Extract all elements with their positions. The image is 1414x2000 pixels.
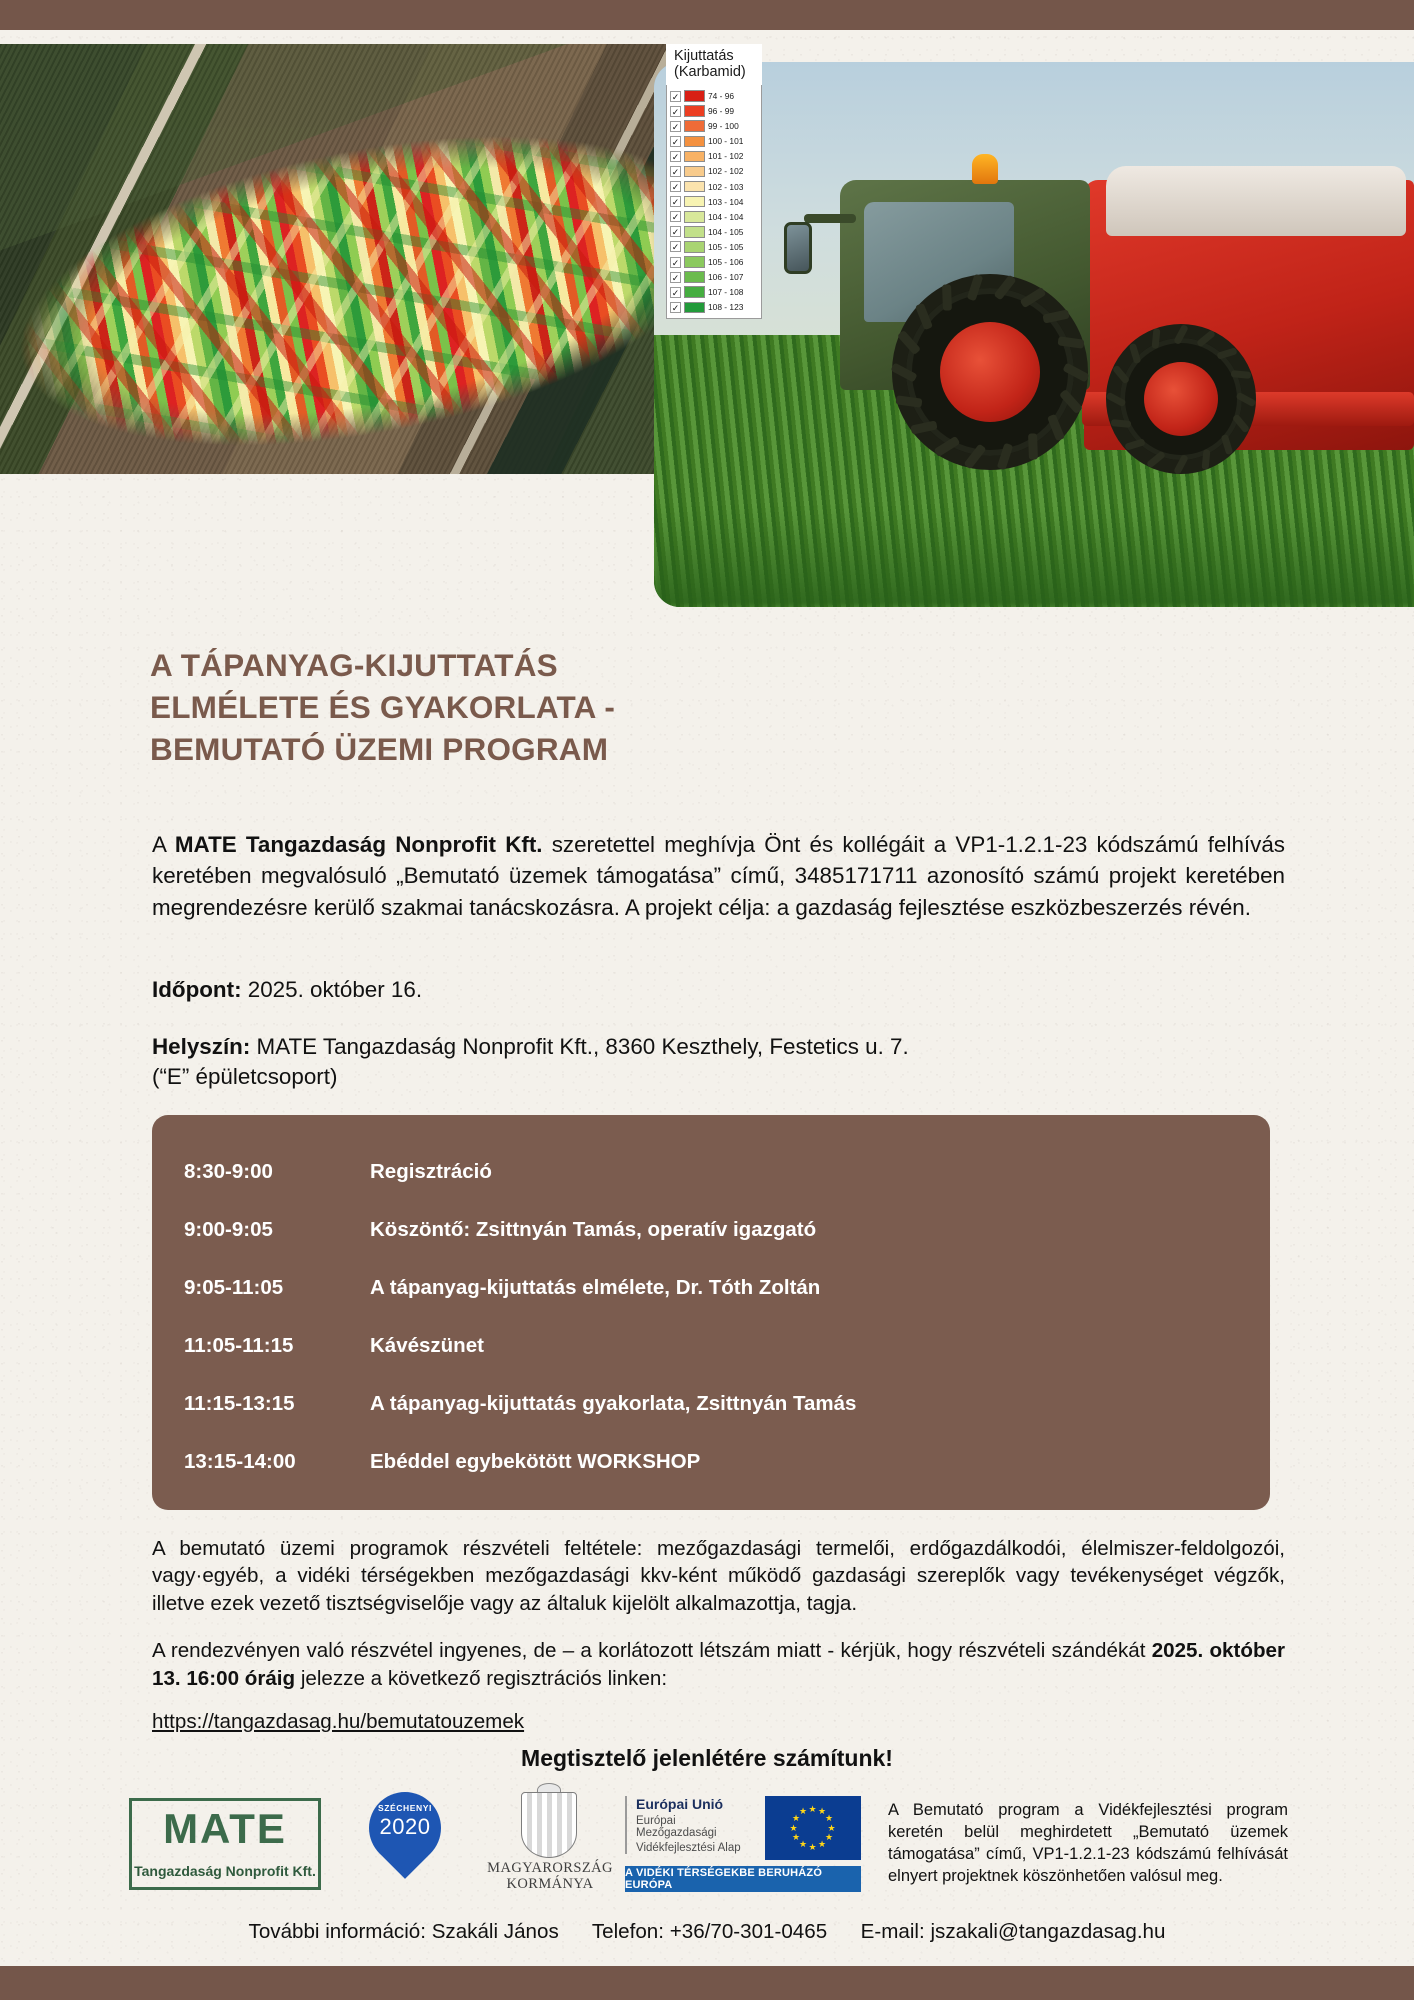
map-legend-row[interactable]: ✓104 - 105	[670, 224, 759, 239]
map-legend-color-swatch	[684, 105, 705, 117]
schedule-description: Köszöntő: Zsittnyán Tamás, operatív igaz…	[370, 1218, 1270, 1242]
program-schedule-panel: 8:30-9:00Regisztráció9:00-9:05Köszöntő: …	[152, 1115, 1270, 1510]
event-date-line: Időpont: 2025. október 16.	[152, 977, 1285, 1003]
checkbox-checked-icon[interactable]: ✓	[670, 121, 681, 132]
map-legend-row[interactable]: ✓102 - 102	[670, 164, 759, 179]
map-legend-row[interactable]: ✓104 - 104	[670, 209, 759, 224]
eu-logo-text: Európai Unió Európai Mezőgazdasági Vidék…	[625, 1796, 753, 1854]
schedule-row: 11:15-13:15A tápanyag-kijuttatás gyakorl…	[152, 1375, 1270, 1433]
eu-flag-icon: ★★★★★★★★★★★★	[765, 1796, 861, 1860]
page-title: A TÁPANYAG-KIJUTTATÁSELMÉLETE ÉS GYAKORL…	[150, 645, 650, 771]
schedule-time: 9:05-11:05	[152, 1276, 370, 1300]
tractor-side-mirror	[784, 222, 812, 274]
poster-root: Kijuttatás (Karbamid) ✓74 - 96✓96 - 99✓9…	[0, 0, 1414, 2000]
mate-logo-wordmark: MATE	[129, 1798, 321, 1856]
map-legend-range-label: 96 - 99	[708, 106, 734, 116]
top-decorative-band	[0, 0, 1414, 30]
map-legend-color-swatch	[684, 151, 705, 163]
schedule-time: 13:15-14:00	[152, 1450, 370, 1474]
hungary-government-logo: MAGYARORSZÁG KORMÁNYA	[485, 1790, 615, 1898]
registration-text-part1: A rendezvényen való részvétel ingyenes, …	[152, 1639, 1152, 1662]
checkbox-checked-icon[interactable]: ✓	[670, 287, 681, 298]
map-legend-range-label: 105 - 106	[708, 257, 743, 267]
contact-phone-label: Telefon:	[592, 1920, 664, 1943]
contact-name: Szakáli János	[432, 1920, 559, 1943]
map-legend-color-swatch	[684, 196, 705, 208]
map-legend-color-swatch	[684, 302, 705, 314]
organizer-name: MATE Tangazdaság Nonprofit Kft.	[175, 832, 543, 857]
map-legend-range-label: 104 - 105	[708, 227, 743, 237]
map-legend-range-label: 100 - 101	[708, 136, 743, 146]
map-legend: Kijuttatás (Karbamid) ✓74 - 96✓96 - 99✓9…	[666, 44, 762, 319]
map-legend-row[interactable]: ✓100 - 101	[670, 134, 759, 149]
checkbox-checked-icon[interactable]: ✓	[670, 257, 681, 268]
map-legend-color-swatch	[684, 90, 705, 102]
closing-line: Megtisztelő jelenlétére számítunk!	[0, 1745, 1414, 1772]
map-legend-row[interactable]: ✓106 - 107	[670, 270, 759, 285]
map-legend-range-label: 74 - 96	[708, 91, 734, 101]
map-legend-range-label: 108 - 123	[708, 302, 743, 312]
registration-link[interactable]: https://tangazdasag.hu/bemutatouzemek	[152, 1710, 524, 1734]
schedule-row: 11:05-11:15Kávészünet	[152, 1317, 1270, 1375]
eu-logo-line1: Európai Unió	[636, 1796, 753, 1812]
map-legend-range-label: 104 - 104	[708, 212, 743, 222]
schedule-row: 9:05-11:05A tápanyag-kijuttatás elmélete…	[152, 1259, 1270, 1317]
schedule-description: A tápanyag-kijuttatás gyakorlata, Zsittn…	[370, 1392, 1270, 1416]
registration-text-part2: jelezze a következő regisztrációs linken…	[295, 1667, 667, 1690]
schedule-description: Ebéddel egybekötött WORKSHOP	[370, 1450, 1270, 1474]
eu-star-icon: ★	[809, 1805, 817, 1814]
map-legend-row[interactable]: ✓102 - 103	[670, 179, 759, 194]
mate-logo: MATE Tangazdaság Nonprofit Kft.	[125, 1796, 325, 1892]
contact-phone: +36/70-301-0465	[670, 1920, 827, 1943]
event-venue-value: MATE Tangazdaság Nonprofit Kft., 8360 Ke…	[257, 1034, 909, 1059]
checkbox-checked-icon[interactable]: ✓	[670, 166, 681, 177]
map-legend-color-swatch	[684, 181, 705, 193]
european-union-logo: Európai Unió Európai Mezőgazdasági Vidék…	[625, 1794, 865, 1894]
prescription-map-photo	[0, 44, 710, 474]
contact-info-label: További információ:	[249, 1920, 426, 1943]
event-date-value: 2025. október 16.	[248, 977, 422, 1002]
tractor-tyre-tread	[1231, 370, 1252, 379]
map-legend-range-label: 105 - 105	[708, 242, 743, 252]
page-title-line-2: ELMÉLETE ÉS GYAKORLATA -	[150, 687, 650, 729]
event-venue-label: Helyszín:	[152, 1034, 250, 1059]
spreader-hopper-cover	[1106, 166, 1406, 236]
schedule-description: Regisztráció	[370, 1160, 1270, 1184]
tractor-front-wheel-hub	[1144, 362, 1218, 436]
szechenyi-2020-logo: SZÉCHENYI 2020	[357, 1792, 453, 1896]
intro-text-a: A	[152, 832, 175, 857]
map-legend-row[interactable]: ✓96 - 99	[670, 104, 759, 119]
tractor-tyre-tread	[1028, 433, 1038, 459]
mate-logo-subtitle: Tangazdaság Nonprofit Kft.	[129, 1856, 321, 1890]
szechenyi-logo-name: SZÉCHENYI	[369, 1804, 441, 1813]
szechenyi-logo-text: SZÉCHENYI 2020	[369, 1804, 441, 1838]
checkbox-checked-icon[interactable]: ✓	[670, 106, 681, 117]
hungary-logo-line2: KORMÁNYA	[485, 1876, 615, 1892]
map-legend-row[interactable]: ✓101 - 102	[670, 149, 759, 164]
schedule-time: 8:30-9:00	[152, 1160, 370, 1184]
participation-conditions: A bemutató üzemi programok részvételi fe…	[152, 1535, 1285, 1617]
szechenyi-logo-year: 2020	[369, 1816, 441, 1838]
map-legend-row[interactable]: ✓108 - 123	[670, 300, 759, 315]
checkbox-checked-icon[interactable]: ✓	[670, 196, 681, 207]
checkbox-checked-icon[interactable]: ✓	[670, 241, 681, 252]
eu-star-icon: ★	[799, 1840, 807, 1849]
tractor-tyre-tread	[942, 284, 952, 310]
tractor-beacon-light	[972, 154, 998, 184]
map-legend-row[interactable]: ✓103 - 104	[670, 194, 759, 209]
map-legend-color-swatch	[684, 120, 705, 132]
map-legend-color-swatch	[684, 166, 705, 178]
map-legend-rows: ✓74 - 96✓96 - 99✓99 - 100✓100 - 101✓101 …	[666, 85, 762, 318]
eu-star-icon: ★	[792, 1833, 800, 1842]
tractor-photo	[654, 62, 1414, 607]
map-legend-color-swatch	[684, 211, 705, 223]
map-legend-color-swatch	[684, 271, 705, 283]
checkbox-checked-icon[interactable]: ✓	[670, 211, 681, 222]
map-legend-range-label: 103 - 104	[708, 197, 743, 207]
map-legend-range-label: 101 - 102	[708, 151, 743, 161]
contact-line: További információ: Szakáli János Telefo…	[0, 1920, 1414, 1944]
schedule-row: 9:00-9:05Köszöntő: Zsittnyán Tamás, oper…	[152, 1201, 1270, 1259]
funding-note: A Bemutató program a Vidékfejlesztési pr…	[888, 1800, 1288, 1888]
hungary-logo-line1: MAGYARORSZÁG	[485, 1860, 615, 1876]
map-legend-row[interactable]: ✓105 - 106	[670, 255, 759, 270]
eu-star-icon: ★	[818, 1840, 826, 1849]
map-legend-range-label: 99 - 100	[708, 121, 739, 131]
map-legend-row[interactable]: ✓74 - 96	[670, 88, 759, 103]
schedule-time: 11:15-13:15	[152, 1392, 370, 1416]
map-legend-color-swatch	[684, 241, 705, 253]
checkbox-checked-icon[interactable]: ✓	[670, 226, 681, 237]
map-legend-row[interactable]: ✓107 - 108	[670, 285, 759, 300]
schedule-time: 9:00-9:05	[152, 1218, 370, 1242]
logo-strip: MATE Tangazdaság Nonprofit Kft. SZÉCHENY…	[125, 1790, 865, 1900]
event-venue-line: Helyszín: MATE Tangazdaság Nonprofit Kft…	[152, 1032, 1285, 1062]
page-title-line-1: A TÁPANYAG-KIJUTTATÁS	[150, 645, 650, 687]
intro-paragraph: A MATE Tangazdaság Nonprofit Kft. szeret…	[152, 829, 1285, 923]
checkbox-checked-icon[interactable]: ✓	[670, 91, 681, 102]
bottom-decorative-band	[0, 1966, 1414, 2000]
eu-star-icon: ★	[825, 1814, 833, 1823]
tractor-rear-wheel-hub	[940, 322, 1040, 422]
map-legend-title: Kijuttatás (Karbamid)	[666, 44, 762, 85]
checkbox-checked-icon[interactable]: ✓	[670, 181, 681, 192]
map-legend-color-swatch	[684, 226, 705, 238]
checkbox-checked-icon[interactable]: ✓	[670, 151, 681, 162]
eu-logo-line2: Európai Mezőgazdasági	[636, 1815, 753, 1839]
map-legend-range-label: 102 - 102	[708, 166, 743, 176]
photo-foreground-blur	[654, 509, 1414, 607]
map-legend-row[interactable]: ✓105 - 105	[670, 239, 759, 254]
eu-star-icon: ★	[809, 1843, 817, 1852]
checkbox-checked-icon[interactable]: ✓	[670, 272, 681, 283]
coat-of-arms-icon	[521, 1792, 577, 1858]
map-legend-title-line1: Kijuttatás	[674, 48, 756, 64]
map-legend-color-swatch	[684, 256, 705, 268]
eu-banner-text: A VIDÉKI TÉRSÉGEKBE BERUHÁZÓ EURÓPA	[625, 1866, 861, 1892]
map-legend-row[interactable]: ✓99 - 100	[670, 119, 759, 134]
schedule-row: 8:30-9:00Regisztráció	[152, 1143, 1270, 1201]
eu-logo-line3: Vidékfejlesztési Alap	[636, 1842, 753, 1854]
checkbox-checked-icon[interactable]: ✓	[670, 136, 681, 147]
map-legend-color-swatch	[684, 286, 705, 298]
schedule-time: 11:05-11:15	[152, 1334, 370, 1358]
checkbox-checked-icon[interactable]: ✓	[670, 302, 681, 313]
event-venue-block: Helyszín: MATE Tangazdaság Nonprofit Kft…	[152, 1032, 1285, 1091]
map-legend-color-swatch	[684, 136, 705, 148]
schedule-description: Kávészünet	[370, 1334, 1270, 1358]
event-date-label: Időpont:	[152, 977, 242, 1002]
map-legend-range-label: 102 - 103	[708, 182, 743, 192]
page-title-line-3: BEMUTATÓ ÜZEMI PROGRAM	[150, 729, 650, 771]
tractor-mirror-arm	[804, 214, 856, 223]
map-legend-range-label: 107 - 108	[708, 287, 743, 297]
schedule-description: A tápanyag-kijuttatás elmélete, Dr. Tóth…	[370, 1276, 1270, 1300]
eu-star-icon: ★	[799, 1807, 807, 1816]
schedule-row: 13:15-14:00Ebéddel egybekötött WORKSHOP	[152, 1433, 1270, 1491]
hungary-logo-text: MAGYARORSZÁG KORMÁNYA	[485, 1860, 615, 1892]
eu-star-icon: ★	[790, 1824, 798, 1833]
contact-email: jszakali@tangazdasag.hu	[930, 1920, 1165, 1943]
eu-star-icon: ★	[825, 1833, 833, 1842]
contact-email-label: E-mail:	[861, 1920, 925, 1943]
event-venue-note: (“E” épületcsoport)	[152, 1062, 1285, 1092]
registration-paragraph: A rendezvényen való részvétel ingyenes, …	[152, 1637, 1285, 1694]
map-legend-title-line2: (Karbamid)	[674, 64, 756, 80]
map-legend-range-label: 106 - 107	[708, 272, 743, 282]
